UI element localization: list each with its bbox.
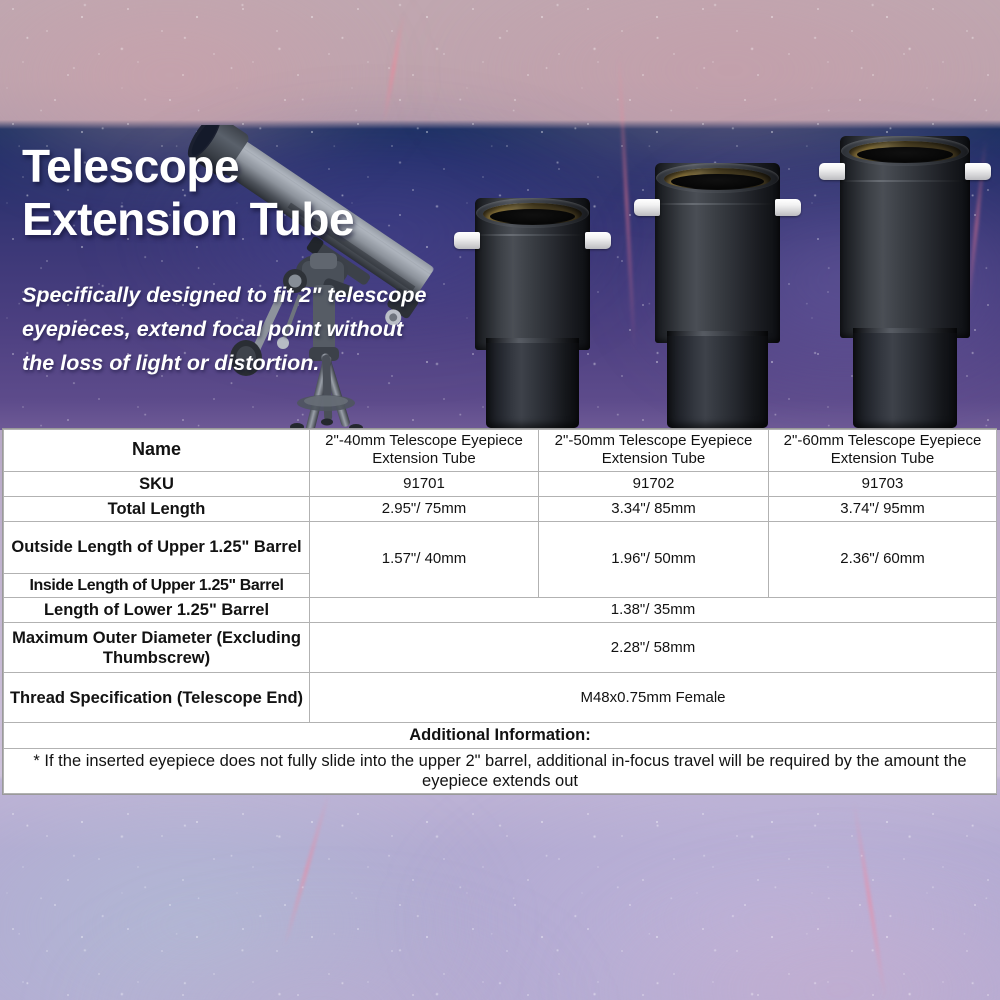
table-row-sku: SKU 91701 91702 91703 (4, 471, 997, 496)
tube-lower-lip-40 (486, 338, 579, 343)
row-label-lower-barrel: Length of Lower 1.25" Barrel (4, 598, 310, 623)
product-tube-60mm (840, 136, 970, 428)
specification-table: Name 2"-40mm Telescope Eyepiece Extensio… (3, 429, 997, 794)
column-header-60mm: 2"-60mm Telescope Eyepiece Extension Tub… (769, 430, 997, 472)
row-label-inside-length: Inside Length of Upper 1.25" Barrel (4, 573, 310, 598)
tube-upper-barrel-50 (655, 163, 780, 343)
tube-lower-lip-60 (853, 328, 957, 333)
tube-lower-lip-50 (667, 331, 768, 336)
column-header-50mm: 2"-50mm Telescope Eyepiece Extension Tub… (539, 430, 769, 472)
tube-lower-barrel-60 (853, 328, 957, 428)
additional-information-body: * If the inserted eyepiece does not full… (4, 748, 997, 793)
tube-lower-barrel-50 (667, 331, 768, 428)
product-photo-group (455, 128, 1000, 428)
product-tube-40mm (475, 198, 590, 428)
tube-inner-bore-60 (857, 147, 953, 162)
tube-upper-barrel-60 (840, 136, 970, 338)
hero-subtitle: Specifically designed to fit 2" telescop… (22, 279, 492, 381)
cell-total-length-60mm: 3.74"/ 95mm (769, 496, 997, 521)
tube-inner-bore-50 (671, 174, 764, 189)
row-label-total-length: Total Length (4, 496, 310, 521)
tube-upper-barrel-40 (475, 198, 590, 350)
cell-barrel-length-60mm: 2.36"/ 60mm (769, 521, 997, 598)
row-label-outer-diameter: Maximum Outer Diameter (Excluding Thumbs… (4, 623, 310, 673)
hero-text-block: Telescope Extension Tube Specifically de… (22, 140, 492, 381)
tube-seam-40 (475, 234, 590, 236)
specification-table-container: Name 2"-40mm Telescope Eyepiece Extensio… (2, 428, 997, 795)
table-row-outer-diameter: Maximum Outer Diameter (Excluding Thumbs… (4, 623, 997, 673)
table-row-total-length: Total Length 2.95"/ 75mm 3.34"/ 85mm 3.7… (4, 496, 997, 521)
row-label-name: Name (4, 430, 310, 472)
cell-barrel-length-50mm: 1.96"/ 50mm (539, 521, 769, 598)
tube-lower-barrel-40 (486, 338, 579, 428)
infographic-page: Telescope Extension Tube Specifically de… (0, 0, 1000, 1000)
cell-lower-barrel-merged: 1.38"/ 35mm (310, 598, 997, 623)
thumbscrew-left-50 (634, 199, 660, 216)
thumbscrew-right-40 (585, 232, 611, 249)
row-label-thread-spec: Thread Specification (Telescope End) (4, 673, 310, 723)
cell-total-length-50mm: 3.34"/ 85mm (539, 496, 769, 521)
tube-seam-60 (840, 180, 970, 182)
page-title: Telescope Extension Tube (22, 140, 492, 247)
cell-barrel-length-40mm: 1.57"/ 40mm (310, 521, 539, 598)
cell-thread-spec-merged: M48x0.75mm Female (310, 673, 997, 723)
product-tube-50mm (655, 163, 780, 428)
table-row-lower-barrel: Length of Lower 1.25" Barrel 1.38"/ 35mm (4, 598, 997, 623)
additional-information-label: Additional Information: (4, 723, 997, 748)
cell-sku-60mm: 91703 (769, 471, 997, 496)
table-row-outside-length: Outside Length of Upper 1.25" Barrel 1.5… (4, 521, 997, 573)
tube-seam-50 (655, 203, 780, 205)
thumbscrew-left-60 (819, 163, 845, 180)
thumbscrew-right-60 (965, 163, 991, 180)
table-row-additional-info-body: * If the inserted eyepiece does not full… (4, 748, 997, 793)
row-label-sku: SKU (4, 471, 310, 496)
table-row-thread-spec: Thread Specification (Telescope End) M48… (4, 673, 997, 723)
cell-total-length-40mm: 2.95"/ 75mm (310, 496, 539, 521)
cell-sku-50mm: 91702 (539, 471, 769, 496)
table-row-name: Name 2"-40mm Telescope Eyepiece Extensio… (4, 430, 997, 472)
row-label-outside-length: Outside Length of Upper 1.25" Barrel (4, 521, 310, 573)
cell-outer-diameter-merged: 2.28"/ 58mm (310, 623, 997, 673)
thumbscrew-right-50 (775, 199, 801, 216)
table-row-additional-info-label: Additional Information: (4, 723, 997, 748)
tube-inner-bore-40 (490, 209, 575, 224)
column-header-40mm: 2"-40mm Telescope Eyepiece Extension Tub… (310, 430, 539, 472)
cell-sku-40mm: 91701 (310, 471, 539, 496)
